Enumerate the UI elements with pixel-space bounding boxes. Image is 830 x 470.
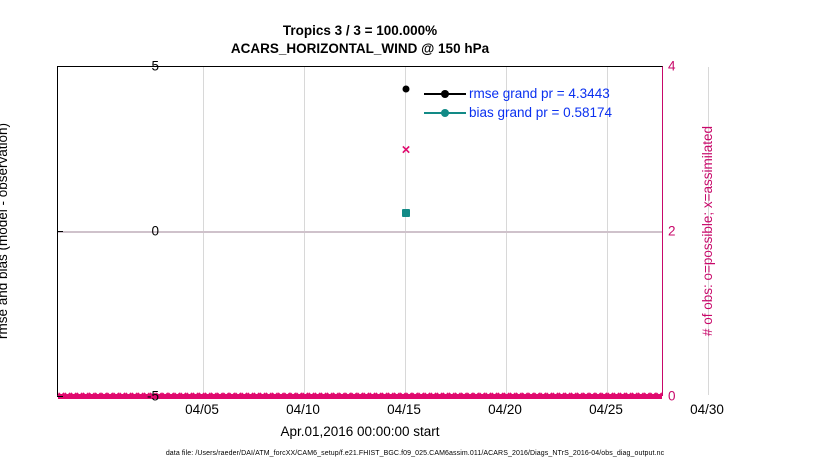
obs-marker-assimilated: ×: [442, 391, 447, 402]
obs-marker-assimilated: ×: [88, 391, 93, 402]
obs-marker-assimilated: ×: [448, 391, 453, 402]
obs-marker-assimilated: ×: [106, 391, 111, 402]
obs-marker-assimilated: ×: [259, 391, 264, 402]
chart-title-line-1: Tropics 3 / 3 = 100.000%: [57, 22, 663, 40]
obs-marker-assimilated: ×: [271, 391, 276, 402]
obs-marker-assimilated: ×: [241, 391, 246, 402]
legend-entry: bias grand pr = 0.58174: [424, 103, 612, 122]
obs-marker-assimilated: ×: [460, 391, 465, 402]
obs-marker-assimilated: ×: [277, 391, 282, 402]
data-file-caption: data file: /Users/raeder/DAI/ATM_forcXX/…: [0, 450, 830, 457]
obs-marker-assimilated: ×: [186, 391, 191, 402]
chart-legend: rmse grand pr = 4.3443bias grand pr = 0.…: [424, 84, 612, 122]
data-point-rmse: [403, 85, 410, 92]
obs-marker-assimilated: ×: [289, 391, 294, 402]
obs-marker-assimilated: ×: [295, 391, 300, 402]
obs-marker-assimilated: ×: [546, 391, 551, 402]
right-axis-label: # of obs: o=possible; x=assimilated: [700, 61, 715, 401]
obs-marker-assimilated: ×: [234, 391, 239, 402]
obs-marker-assimilated: ×: [509, 391, 514, 402]
obs-marker-assimilated: ×: [643, 391, 648, 402]
obs-marker-assimilated: ×: [564, 391, 569, 402]
x-axis-tick-label: 04/25: [589, 402, 623, 417]
obs-marker-assimilated: ×: [320, 391, 325, 402]
obs-marker-assimilated: ×: [521, 391, 526, 402]
obs-marker-assimilated: ×: [637, 391, 642, 402]
obs-marker-assimilated: ×: [613, 391, 618, 402]
obs-marker-assimilated: ×: [210, 391, 215, 402]
obs-marker-assimilated: ×: [314, 391, 319, 402]
obs-marker-assimilated: ×: [228, 391, 233, 402]
legend-swatch: [424, 107, 466, 119]
x-axis-label: Apr.01,2016 00:00:00 start: [57, 424, 663, 439]
obs-marker-assimilated: ×: [515, 391, 520, 402]
obs-marker-assimilated: ×: [491, 391, 496, 402]
left-axis-tick-label: 0: [151, 224, 159, 239]
left-axis-tick-mark: [57, 66, 63, 67]
x-axis-tick-label: 04/30: [690, 402, 724, 417]
legend-label: rmse grand pr = 4.3443: [469, 84, 610, 103]
x-axis-tick-label: 04/20: [488, 402, 522, 417]
obs-marker-assimilated: ×: [655, 391, 660, 402]
x-axis-tick-label: 04/10: [286, 402, 320, 417]
obs-marker-assimilated: ×: [161, 391, 166, 402]
obs-marker-assimilated: ×: [119, 391, 124, 402]
data-point-obs-assimilated: ×: [402, 145, 411, 154]
obs-marker-assimilated: ×: [326, 391, 331, 402]
obs-marker-assimilated: ×: [649, 391, 654, 402]
obs-marker-assimilated: ×: [375, 391, 380, 402]
x-axis-tick-label: 04/15: [387, 402, 421, 417]
right-axis-tick-label: 2: [668, 224, 676, 239]
left-axis-tick-label: -5: [147, 389, 159, 404]
obs-marker-assimilated: ×: [222, 391, 227, 402]
obs-marker-assimilated: ×: [131, 391, 136, 402]
obs-marker-assimilated: ×: [167, 391, 172, 402]
left-axis-label: rmse and bias (model - observation): [0, 61, 10, 401]
obs-marker-assimilated: ×: [94, 391, 99, 402]
obs-marker-assimilated: ×: [344, 391, 349, 402]
obs-marker-assimilated: ×: [454, 391, 459, 402]
obs-marker-assimilated: ×: [100, 391, 105, 402]
obs-marker-assimilated: ×: [582, 391, 587, 402]
obs-marker-assimilated: ×: [539, 391, 544, 402]
zero-reference-line: [58, 231, 662, 233]
obs-marker-assimilated: ×: [125, 391, 130, 402]
obs-marker-assimilated: ×: [399, 391, 404, 402]
left-axis-tick-mark: [57, 231, 63, 232]
obs-marker-assimilated: ×: [363, 391, 368, 402]
obs-marker-assimilated: ×: [381, 391, 386, 402]
obs-marker-assimilated: ×: [417, 391, 422, 402]
chart-title: Tropics 3 / 3 = 100.000% ACARS_HORIZONTA…: [57, 22, 663, 58]
obs-marker-assimilated: ×: [411, 391, 416, 402]
obs-marker-assimilated: ×: [64, 391, 69, 402]
obs-marker-assimilated: ×: [387, 391, 392, 402]
obs-marker-assimilated: ×: [478, 391, 483, 402]
obs-marker-assimilated: ×: [265, 391, 270, 402]
obs-marker-assimilated: ×: [485, 391, 490, 402]
obs-marker-assimilated: ×: [393, 391, 398, 402]
obs-marker-assimilated: ×: [436, 391, 441, 402]
left-axis-tick-mark: [57, 396, 63, 397]
obs-marker-assimilated: ×: [533, 391, 538, 402]
chart-title-line-2: ACARS_HORIZONTAL_WIND @ 150 hPa: [57, 40, 663, 58]
obs-marker-assimilated: ×: [631, 391, 636, 402]
obs-marker-assimilated: ×: [356, 391, 361, 402]
obs-marker-assimilated: ×: [173, 391, 178, 402]
obs-marker-assimilated: ×: [625, 391, 630, 402]
obs-marker-assimilated: ×: [466, 391, 471, 402]
obs-marker-assimilated: ×: [472, 391, 477, 402]
legend-swatch: [424, 88, 466, 100]
obs-marker-assimilated: ×: [430, 391, 435, 402]
obs-marker-assimilated: ×: [619, 391, 624, 402]
obs-marker-assimilated: ×: [350, 391, 355, 402]
obs-marker-assimilated: ×: [497, 391, 502, 402]
obs-marker-assimilated: ×: [70, 391, 75, 402]
obs-marker-assimilated: ×: [576, 391, 581, 402]
obs-marker-assimilated: ×: [424, 391, 429, 402]
obs-marker-assimilated: ×: [253, 391, 258, 402]
circle-marker: [441, 109, 449, 117]
obs-marker-assimilated: ×: [527, 391, 532, 402]
legend-label: bias grand pr = 0.58174: [469, 103, 612, 122]
right-axis-tick-label: 0: [668, 389, 676, 404]
obs-marker-assimilated: ×: [369, 391, 374, 402]
obs-marker-assimilated: ×: [204, 391, 209, 402]
obs-marker-assimilated: ×: [82, 391, 87, 402]
obs-marker-assimilated: ×: [76, 391, 81, 402]
obs-marker-assimilated: ×: [594, 391, 599, 402]
obs-marker-assimilated: ×: [558, 391, 563, 402]
obs-marker-assimilated: ×: [588, 391, 593, 402]
data-point-bias: [402, 209, 410, 217]
obs-marker-assimilated: ×: [338, 391, 343, 402]
obs-marker-assimilated: ×: [283, 391, 288, 402]
left-axis-tick-label: 5: [151, 59, 159, 74]
obs-marker-assimilated: ×: [112, 391, 117, 402]
obs-marker-assimilated: ×: [552, 391, 557, 402]
obs-marker-assimilated: ×: [216, 391, 221, 402]
circle-marker: [441, 90, 449, 98]
obs-marker-assimilated: ×: [570, 391, 575, 402]
obs-marker-assimilated: ×: [247, 391, 252, 402]
obs-marker-assimilated: ×: [332, 391, 337, 402]
obs-marker-assimilated: ×: [600, 391, 605, 402]
legend-entry: rmse grand pr = 4.3443: [424, 84, 612, 103]
obs-marker-assimilated: ×: [308, 391, 313, 402]
obs-marker-assimilated: ×: [137, 391, 142, 402]
right-axis-tick-label: 4: [668, 59, 676, 74]
obs-marker-assimilated: ×: [192, 391, 197, 402]
x-axis-tick-label: 04/05: [185, 402, 219, 417]
obs-marker-assimilated: ×: [180, 391, 185, 402]
